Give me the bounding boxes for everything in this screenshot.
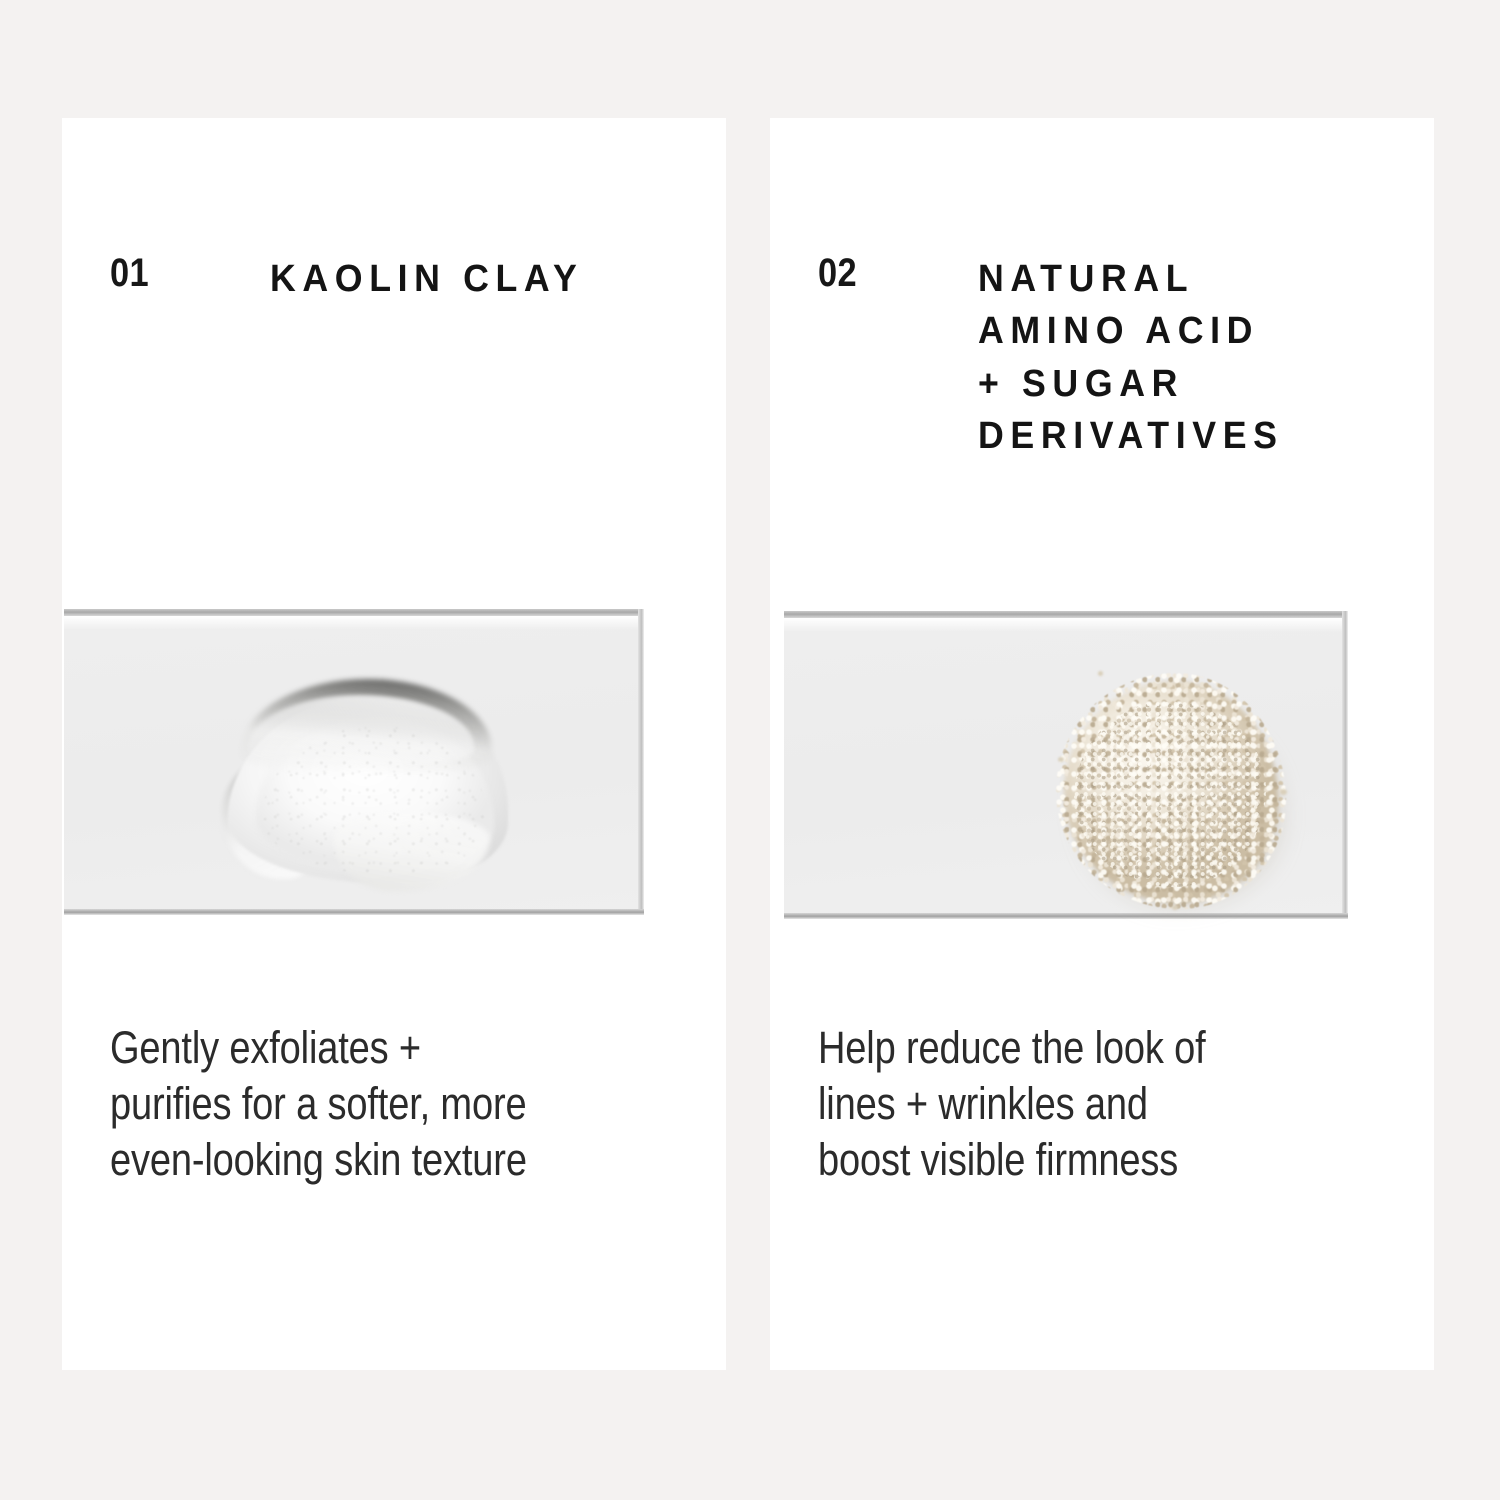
ingredient-card-kaolin-clay: 01 KAOLIN CLAY Gentl — [62, 118, 726, 1370]
slab-top-edge — [64, 609, 644, 616]
ingredient-panel: 01 KAOLIN CLAY Gentl — [0, 0, 1500, 1500]
kaolin-clay-swatch-photo — [62, 591, 662, 943]
ingredient-number: 01 — [110, 253, 248, 293]
slab-right-edge — [1342, 611, 1348, 919]
ingredient-description: Help reduce the look of lines + wrinkles… — [818, 1020, 1315, 1188]
powder-stray-granule — [1280, 789, 1287, 795]
ingredient-title: KAOLIN CLAY — [270, 253, 583, 305]
slab-top-edge — [784, 611, 1348, 618]
amino-acid-sugar-powder-photo — [778, 591, 1360, 943]
ingredient-title: NATURAL AMINO ACID + SUGAR DERIVATIVES — [978, 253, 1284, 463]
glass-slab — [784, 611, 1348, 919]
powder-mound — [1052, 661, 1290, 921]
ingredient-number: 02 — [818, 253, 956, 293]
slab-bottom-edge — [64, 909, 644, 915]
ingredient-header: 01 KAOLIN CLAY — [110, 253, 706, 305]
powder-grain-texture-fine — [1074, 701, 1266, 887]
glass-slab — [64, 609, 644, 915]
ingredient-header: 02 NATURAL AMINO ACID + SUGAR DERIVATIVE… — [818, 253, 1414, 463]
powder-stray-granule — [1098, 671, 1103, 676]
powder-stray-granule — [1058, 757, 1064, 762]
clay-smear — [222, 665, 512, 895]
slab-highlight — [64, 616, 644, 630]
ingredient-card-amino-acid-sugar: 02 NATURAL AMINO ACID + SUGAR DERIVATIVE… — [770, 118, 1434, 1370]
ingredient-description: Gently exfoliates + purifies for a softe… — [110, 1020, 607, 1188]
slab-highlight — [784, 618, 1348, 632]
powder-stray-granule — [1172, 905, 1178, 910]
slab-right-edge — [638, 609, 644, 915]
